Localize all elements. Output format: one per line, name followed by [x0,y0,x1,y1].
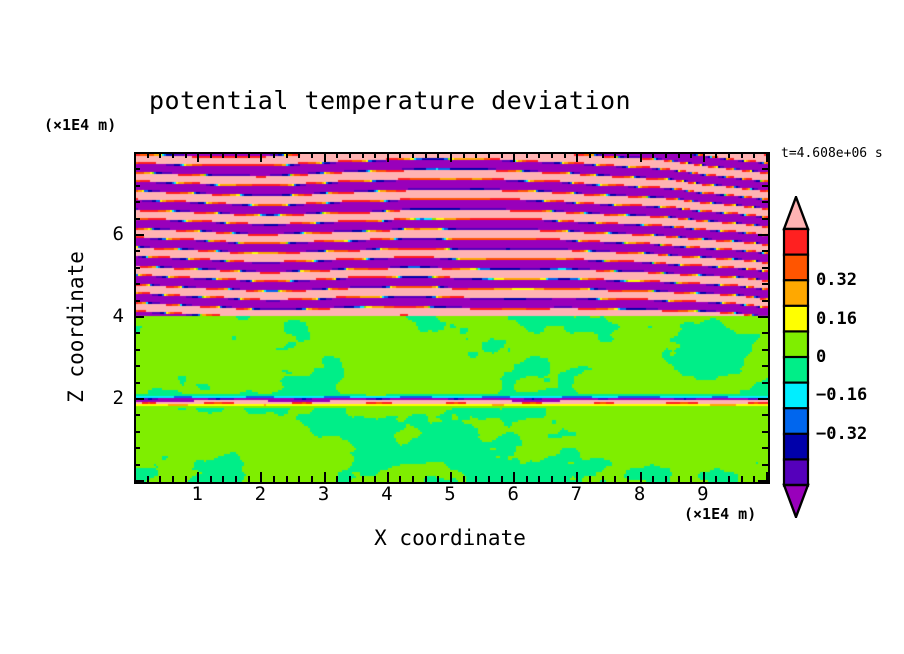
y-minor-tick [134,300,140,302]
x-minor-tick [501,476,503,482]
y-minor-tick-right [762,349,768,351]
y-major-tick [134,152,144,154]
colorbar-swatch [784,255,808,281]
x-minor-tick-top [475,152,477,158]
x-major-tick-top [450,152,452,162]
x-minor-tick-top [311,152,313,158]
y-minor-tick-right [762,447,768,449]
x-major-tick-top [387,152,389,162]
x-minor-tick-top [463,152,465,158]
x-minor-tick [222,476,224,482]
x-major-tick-top [640,152,642,162]
x-minor-tick-top [551,152,553,158]
y-minor-tick-right [762,332,768,334]
y-minor-tick-right [762,185,768,187]
y-minor-tick [134,185,140,187]
x-minor-tick-top [399,152,401,158]
x-minor-tick [551,476,553,482]
contour-field [136,154,768,482]
y-minor-tick [134,414,140,416]
y-major-tick-right [758,316,768,318]
x-major-tick-top [197,152,199,162]
x-minor-tick-top [728,152,730,158]
y-minor-tick-right [762,300,768,302]
y-minor-tick-right [762,464,768,466]
y-minor-tick [134,447,140,449]
x-minor-tick [753,476,755,482]
y-minor-tick [134,267,140,269]
y-minor-tick-right [762,283,768,285]
y-minor-tick [134,283,140,285]
x-minor-tick-top [185,152,187,158]
x-major-tick-top [703,152,705,162]
x-major-tick-top [513,152,515,162]
x-major-tick [450,472,452,482]
x-minor-tick [715,476,717,482]
x-minor-tick-top [564,152,566,158]
x-minor-tick-top [273,152,275,158]
x-tick-label: 5 [444,483,455,505]
y-minor-tick [134,250,140,252]
x-minor-tick-top [286,152,288,158]
x-minor-tick-top [336,152,338,158]
x-minor-tick [690,476,692,482]
colorbar [781,196,811,518]
colorbar-tick-label: 0.16 [816,309,857,329]
x-minor-tick-top [425,152,427,158]
y-minor-tick-right [762,414,768,416]
colorbar-swatch [784,306,808,332]
colorbar-swatch [784,280,808,306]
y-minor-tick-right [762,201,768,203]
y-tick-label: 2 [98,387,124,409]
x-minor-tick [159,476,161,482]
x-minor-tick-top [538,152,540,158]
x-minor-tick-top [501,152,503,158]
x-minor-tick [627,476,629,482]
x-minor-tick [728,476,730,482]
colorbar-tick-label: −0.16 [816,385,867,405]
x-minor-tick [526,476,528,482]
x-minor-tick-top [349,152,351,158]
x-major-tick [640,472,642,482]
colorbar-swatch [784,331,808,357]
x-minor-tick [273,476,275,482]
x-tick-label: 3 [318,483,329,505]
x-minor-tick [614,476,616,482]
y-major-tick [134,316,144,318]
x-minor-tick-top [678,152,680,158]
x-minor-tick [336,476,338,482]
x-major-tick [387,472,389,482]
y-major-tick-right [758,480,768,482]
x-minor-tick [311,476,313,482]
y-minor-tick-right [762,168,768,170]
y-minor-tick-right [762,365,768,367]
y-major-tick [134,480,144,482]
x-minor-tick [172,476,174,482]
y-tick-label: 6 [98,223,124,245]
y-minor-tick [134,218,140,220]
colorbar-swatches [781,196,811,518]
page-title: potential temperature deviation [0,86,780,115]
y-major-tick-right [758,234,768,236]
y-minor-tick [134,332,140,334]
x-minor-tick [437,476,439,482]
y-minor-tick [134,349,140,351]
y-axis-unit-label: (×1E4 m) [44,116,116,134]
y-minor-tick [134,365,140,367]
colorbar-swatch [784,229,808,255]
x-minor-tick [399,476,401,482]
x-major-tick [197,472,199,482]
x-minor-tick [463,476,465,482]
y-minor-tick [134,382,140,384]
x-minor-tick [665,476,667,482]
x-minor-tick-top [488,152,490,158]
y-minor-tick-right [762,218,768,220]
x-axis-title: X coordinate [134,526,766,550]
y-minor-tick-right [762,382,768,384]
colorbar-tick-label: 0 [816,347,826,367]
x-minor-tick [475,476,477,482]
x-minor-tick-top [298,152,300,158]
x-minor-tick [589,476,591,482]
x-major-tick-top [324,152,326,162]
x-minor-tick-top [652,152,654,158]
x-tick-label: 4 [381,483,392,505]
x-minor-tick [538,476,540,482]
x-minor-tick-top [172,152,174,158]
colorbar-swatch [784,459,808,485]
x-tick-label: 2 [255,483,266,505]
x-minor-tick [235,476,237,482]
time-annotation: t=4.608e+06 s [781,146,883,161]
x-minor-tick [147,476,149,482]
figure-canvas: potential temperature deviation (×1E4 m)… [0,0,904,654]
colorbar-under-cap [784,485,808,517]
x-minor-tick-top [627,152,629,158]
x-minor-tick-top [362,152,364,158]
x-minor-tick [425,476,427,482]
x-minor-tick [298,476,300,482]
x-tick-label: 8 [634,483,645,505]
x-major-tick [703,472,705,482]
y-minor-tick [134,464,140,466]
x-minor-tick [374,476,376,482]
x-major-tick [576,472,578,482]
x-minor-tick-top [210,152,212,158]
x-minor-tick-top [753,152,755,158]
x-tick-label: 6 [507,483,518,505]
y-major-tick [134,398,144,400]
x-minor-tick [678,476,680,482]
x-minor-tick [412,476,414,482]
x-minor-tick [564,476,566,482]
x-minor-tick-top [147,152,149,158]
x-minor-tick [248,476,250,482]
y-tick-label: 4 [98,305,124,327]
x-minor-tick-top [665,152,667,158]
x-minor-tick [349,476,351,482]
x-minor-tick-top [715,152,717,158]
colorbar-swatch [784,408,808,434]
x-major-tick [260,472,262,482]
x-major-tick-top [576,152,578,162]
x-minor-tick-top [374,152,376,158]
x-minor-tick [362,476,364,482]
x-minor-tick-top [222,152,224,158]
colorbar-swatch [784,383,808,409]
y-minor-tick [134,201,140,203]
x-minor-tick [652,476,654,482]
x-minor-tick-top [248,152,250,158]
y-minor-tick-right [762,250,768,252]
y-minor-tick [134,431,140,433]
y-axis-title: Z coordinate [64,237,88,417]
x-major-tick [513,472,515,482]
x-minor-tick-top [602,152,604,158]
x-minor-tick [210,476,212,482]
x-minor-tick [185,476,187,482]
x-minor-tick-top [235,152,237,158]
x-minor-tick [286,476,288,482]
colorbar-tick-label: −0.32 [816,424,867,444]
y-minor-tick-right [762,267,768,269]
x-minor-tick [741,476,743,482]
x-minor-tick-top [526,152,528,158]
x-minor-tick-top [437,152,439,158]
x-minor-tick-top [614,152,616,158]
x-minor-tick-top [159,152,161,158]
colorbar-swatch [784,434,808,460]
colorbar-over-cap [784,197,808,229]
x-minor-tick [602,476,604,482]
x-axis-unit-label: (×1E4 m) [684,505,756,523]
x-tick-label: 9 [697,483,708,505]
x-minor-tick-top [589,152,591,158]
x-major-tick [324,472,326,482]
y-minor-tick-right [762,431,768,433]
colorbar-swatch [784,357,808,383]
y-major-tick-right [758,398,768,400]
y-major-tick-right [758,152,768,154]
x-minor-tick [488,476,490,482]
x-tick-label: 7 [571,483,582,505]
y-minor-tick [134,168,140,170]
y-major-tick [134,234,144,236]
x-minor-tick-top [690,152,692,158]
x-minor-tick-top [741,152,743,158]
x-major-tick-top [260,152,262,162]
x-tick-label: 1 [191,483,202,505]
x-minor-tick-top [412,152,414,158]
colorbar-tick-label: 0.32 [816,270,857,290]
contour-plot-area [134,152,770,484]
